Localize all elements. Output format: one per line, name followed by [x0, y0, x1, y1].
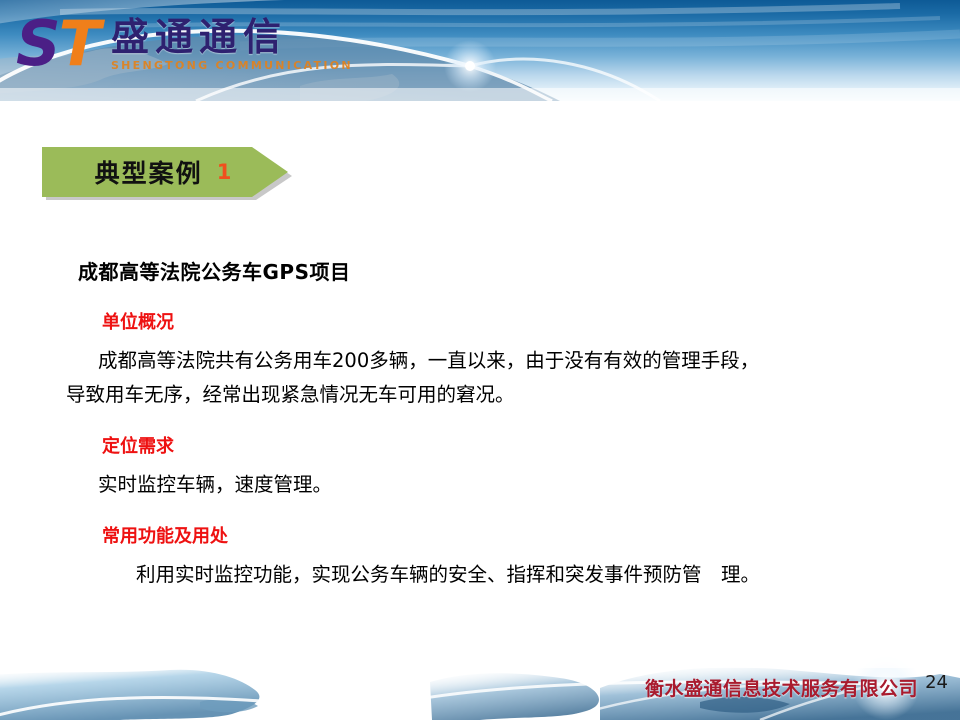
- section-heading-common-functions: 常用功能及用处: [102, 524, 960, 550]
- logo-wordmark: 盛通通信 SHENGTONG COMMUNICATION: [111, 16, 353, 72]
- logo-letter-t: T: [59, 7, 99, 80]
- logo-company-name-en: SHENGTONG COMMUNICATION: [111, 59, 353, 72]
- footer-company-name: 衡水盛通信息技术服务有限公司: [645, 674, 918, 701]
- page-number: 24: [925, 672, 948, 693]
- section-body-common-functions-line1: 利用实时监控功能，实现公务车辆的安全、指挥和突发事件预防管 理。: [98, 558, 934, 592]
- logo-letter-s: S: [16, 7, 59, 80]
- case-banner-text: 典型案例 1: [38, 144, 288, 200]
- logo-mark: ST: [16, 14, 99, 74]
- project-title: 成都高等法院公务车GPS项目: [78, 258, 960, 286]
- case-banner-label: 典型案例: [95, 154, 203, 190]
- section-body-unit-overview-line1: 成都高等法院共有公务用车200多辆，一直以来，由于没有有效的管理手段，: [66, 344, 934, 378]
- section-heading-unit-overview: 单位概况: [102, 310, 960, 336]
- footer-banner: 衡水盛通信息技术服务有限公司 24: [0, 642, 960, 720]
- company-logo: ST 盛通通信 SHENGTONG COMMUNICATION: [16, 14, 353, 86]
- slide-canvas: ST 盛通通信 SHENGTONG COMMUNICATION 典型案例 1 成…: [0, 0, 960, 720]
- section-heading-positioning-needs: 定位需求: [102, 434, 960, 460]
- case-banner: 典型案例 1: [38, 144, 318, 206]
- case-banner-number: 1: [217, 160, 232, 184]
- slide-body: 成都高等法院公务车GPS项目 单位概况 成都高等法院共有公务用车200多辆，一直…: [0, 258, 960, 592]
- section-body-unit-overview-line2: 导致用车无序，经常出现紧急情况无车可用的窘况。: [66, 378, 934, 412]
- section-body-positioning-needs-line1: 实时监控车辆，速度管理。: [98, 468, 934, 502]
- header-banner: ST 盛通通信 SHENGTONG COMMUNICATION: [0, 0, 960, 101]
- logo-company-name-cn: 盛通通信: [111, 16, 353, 58]
